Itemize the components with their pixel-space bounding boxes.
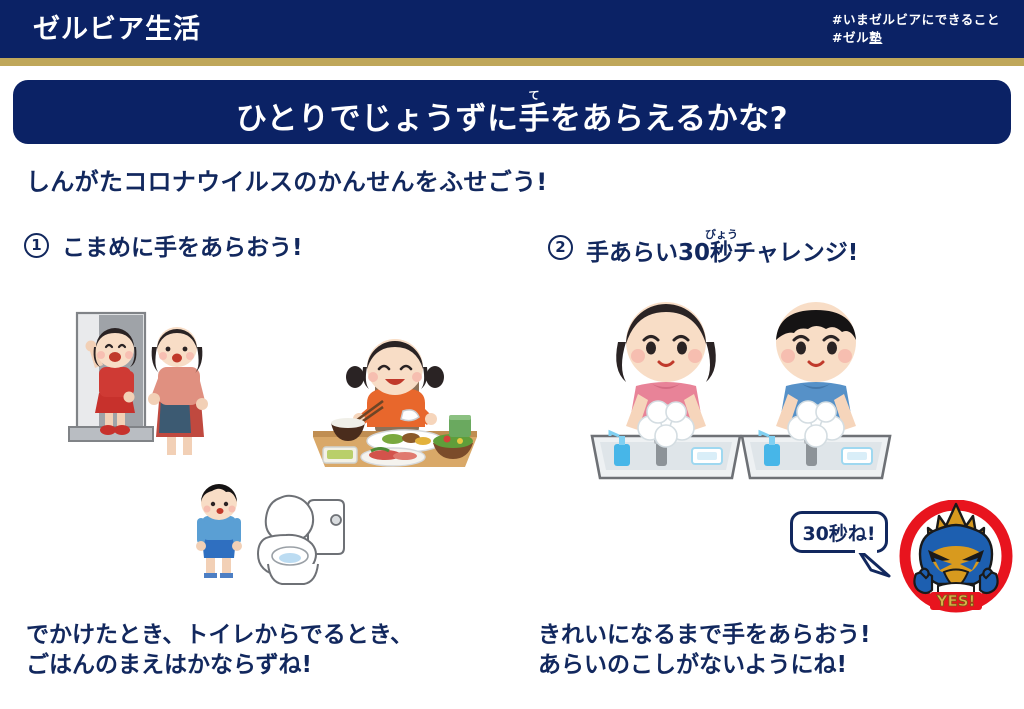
page-header: ゼルビア生活 #いまゼルビアにできること #ゼル塾 (0, 0, 1024, 58)
section-heading-2-part-1: 手あらい30 (586, 240, 710, 266)
hashtag-primary: #いまゼルビアにできること (832, 11, 1000, 29)
hashtag-secondary-prefix: #ゼル (832, 30, 869, 45)
hashtag-secondary: #ゼル塾 (832, 29, 1000, 47)
illustration-child-returning-home (55, 305, 230, 480)
subtitle: しんがたコロナウイルスのかんせんをふせごう! (26, 162, 548, 197)
mascot-zelvia-bird: YES! (898, 500, 1014, 616)
hashtag-secondary-underlined: 塾 (869, 30, 882, 45)
page-title-part-2: をあらえるかな? (550, 101, 788, 137)
section-number-1: 1 (24, 233, 49, 258)
illustration-girl-washing-hands (586, 290, 746, 490)
section-heading-2-text: 手あらい30秒びょうチャレンジ! (586, 228, 858, 267)
gold-divider-stripe (0, 58, 1024, 66)
section-heading-2-part-2: チャレンジ! (733, 240, 858, 266)
speech-bubble: 30秒ね! (790, 511, 888, 553)
section-heading-2-ruby: 秒びょう (710, 240, 733, 266)
page-title-part-1: ひとりでじょうずに (236, 101, 519, 137)
section-heading-2: 2 手あらい30秒びょうチャレンジ! (548, 228, 858, 267)
section-heading-1: 1 こまめに手をあらおう! (24, 228, 303, 262)
page-title-ruby: 手て (519, 101, 551, 137)
mascot-banner-text: YES! (936, 592, 976, 610)
speech-bubble-text: 30秒ね! (802, 519, 875, 546)
caption-section-1: でかけたとき、トイレからでるとき、 ごはんのまえはかならずね! (26, 620, 413, 681)
section-heading-2-ruby-furigana: びょう (705, 228, 738, 241)
illustration-boy-and-toilet (180, 480, 360, 590)
caption-section-2: きれいになるまで手をあらおう! あらいのこしがないようにね! (538, 620, 871, 681)
page-title-ruby-base: 手 (519, 101, 551, 137)
illustration-girl-eating-meal (305, 325, 485, 475)
illustration-boy-washing-hands (736, 290, 896, 490)
header-title: ゼルビア生活 (33, 16, 201, 43)
section-heading-1-text: こまめに手をあらおう! (62, 228, 303, 262)
header-hashtags: #いまゼルビアにできること #ゼル塾 (832, 11, 1000, 47)
page-title-ruby-furigana: て (519, 89, 551, 102)
title-banner: ひとりでじょうずに手てをあらえるかな? (13, 80, 1011, 144)
page-title: ひとりでじょうずに手てをあらえるかな? (236, 89, 788, 135)
section-number-2: 2 (548, 235, 573, 260)
speech-bubble-tail (855, 548, 895, 580)
